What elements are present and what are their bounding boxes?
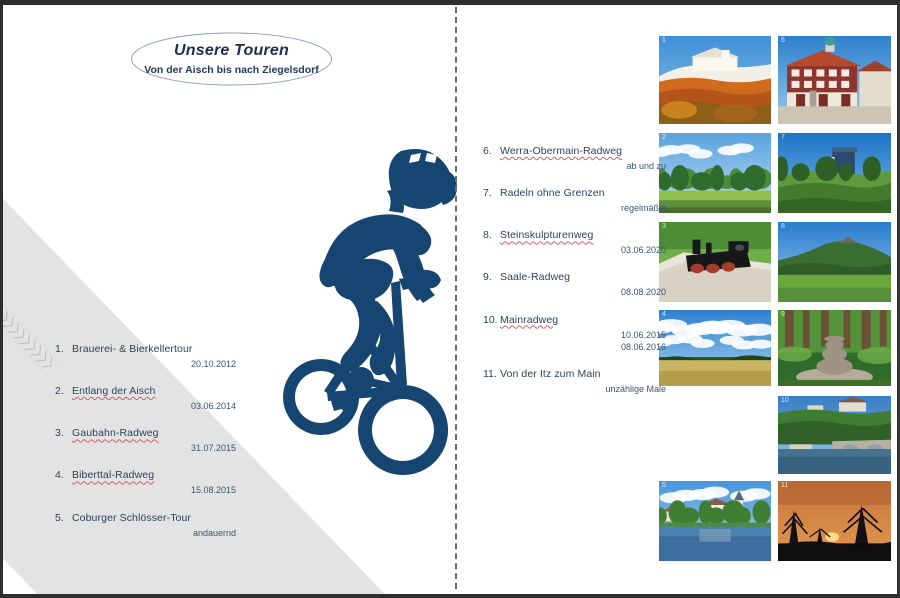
tour-title-line: 5.Coburger Schlösser-Tour — [55, 512, 250, 524]
tour-date: unzählige Male — [483, 383, 668, 395]
tour-title-line: 6.Werra-Obermain-Radweg — [483, 145, 668, 157]
tour-date: andauernd — [55, 527, 250, 539]
photo-thumbnail-4[interactable]: 4 — [658, 309, 772, 387]
tour-title-line: 10.Mainradweg — [483, 314, 668, 326]
photo-thumbnail-9[interactable]: 9 — [777, 309, 892, 387]
tour-date: 03.06.2020 — [483, 244, 668, 256]
tour-name: Werra-Obermain-Radweg — [500, 145, 622, 157]
tour-date: ab und zu — [483, 160, 668, 172]
tour-title-line: 9.Saale-Radweg — [483, 271, 668, 283]
photo-image-8 — [778, 222, 891, 302]
tour-item: 10.Mainradweg10.06.201508.06.2016 — [483, 314, 668, 353]
tour-title-line: 1.Brauerei- & Bierkellertour — [55, 343, 250, 355]
tour-name: Gaubahn-Radweg — [72, 427, 159, 439]
tour-item: 11.Von der Itz zum Mainunzählige Male — [483, 368, 668, 395]
photo-number-badge: 10 — [781, 397, 789, 404]
tour-name: Von der Itz zum Main — [500, 368, 601, 380]
photo-thumbnail-3[interactable]: 3 — [658, 221, 772, 303]
tour-number: 8. — [483, 229, 500, 241]
tour-title-line: 7.Radeln ohne Grenzen — [483, 187, 668, 199]
document-page: Unsere Touren Von der Aisch bis nach Zie… — [0, 0, 900, 598]
photo-thumbnail-6[interactable]: 6 — [777, 35, 892, 125]
photo-image-2 — [659, 133, 771, 213]
tour-name: Coburger Schlösser-Tour — [72, 512, 191, 524]
tour-item: 1.Brauerei- & Bierkellertour20.10.2012 — [55, 343, 250, 370]
tour-item: 4.Biberttal-Radweg15.08.2015 — [55, 469, 250, 496]
photo-image-4 — [659, 310, 771, 386]
photo-number-badge: 7 — [781, 134, 785, 141]
photo-thumbnail-2[interactable]: 2 — [658, 132, 772, 214]
tour-name: Radeln ohne Grenzen — [500, 187, 605, 199]
photo-thumbnail-5[interactable]: 5 — [658, 480, 772, 562]
tour-item: 5.Coburger Schlösser-Tourandauernd — [55, 512, 250, 539]
photo-image-10 — [778, 396, 891, 474]
tour-item: 2.Entlang der Aisch03.06.2014 — [55, 385, 250, 412]
photo-number-badge: 6 — [781, 37, 785, 44]
tour-title-line: 8.Steinskulpturenweg — [483, 229, 668, 241]
tour-name: Mainradweg — [500, 314, 558, 326]
photo-image-3 — [659, 222, 771, 302]
tour-number: 3. — [55, 427, 72, 439]
tour-title-line: 11.Von der Itz zum Main — [483, 368, 668, 380]
tour-number: 9. — [483, 271, 500, 283]
tour-number: 10. — [483, 314, 500, 326]
photo-image-5 — [659, 481, 771, 561]
tour-item: 8.Steinskulpturenweg03.06.2020 — [483, 229, 668, 256]
photo-number-badge: 9 — [781, 311, 785, 318]
photo-number-badge: 11 — [781, 482, 788, 489]
tour-number: 5. — [55, 512, 72, 524]
title-badge: Unsere Touren Von der Aisch bis nach Zie… — [129, 30, 334, 88]
tour-title-line: 2.Entlang der Aisch — [55, 385, 250, 397]
tour-name: Steinskulpturenweg — [500, 229, 593, 241]
tour-name: Entlang der Aisch — [72, 385, 155, 397]
tour-name: Brauerei- & Bierkellertour — [72, 343, 192, 355]
tour-item: 3.Gaubahn-Radweg31.07.2015 — [55, 427, 250, 454]
photo-number-badge: 1 — [662, 37, 666, 44]
tour-number: 6. — [483, 145, 500, 157]
tour-number: 4. — [55, 469, 72, 481]
tour-number: 2. — [55, 385, 72, 397]
page-title: Unsere Touren — [129, 42, 334, 60]
tour-list-right: 6.Werra-Obermain-Radwegab und zu7.Radeln… — [483, 145, 668, 410]
photo-thumbnail-7[interactable]: 7 — [777, 132, 892, 214]
tour-date: regelmäßig — [483, 202, 668, 214]
tour-number: 7. — [483, 187, 500, 199]
tour-name: Biberttal-Radweg — [72, 469, 154, 481]
tour-item: 9.Saale-Radweg08.08.2020 — [483, 271, 668, 298]
tour-date: 20.10.2012 — [55, 358, 250, 370]
photo-number-badge: 8 — [781, 223, 785, 230]
tour-date: 03.06.2014 — [55, 400, 250, 412]
photo-image-1 — [659, 36, 771, 124]
tour-number: 11. — [483, 368, 500, 380]
tour-title-line: 3.Gaubahn-Radweg — [55, 427, 250, 439]
photo-thumbnail-8[interactable]: 8 — [777, 221, 892, 303]
vertical-dashed-divider — [455, 7, 457, 589]
photo-thumbnail-11[interactable]: 11 — [777, 480, 892, 562]
photo-thumbnail-10[interactable]: 10 — [777, 395, 892, 475]
photo-thumbnail-1[interactable]: 1 — [658, 35, 772, 125]
photo-image-7 — [778, 133, 891, 213]
tour-item: 7.Radeln ohne Grenzenregelmäßig — [483, 187, 668, 214]
cyclist-silhouette-icon — [261, 133, 476, 478]
photo-image-6 — [778, 36, 891, 124]
tour-date: 08.08.2020 — [483, 286, 668, 298]
tour-item: 6.Werra-Obermain-Radwegab und zu — [483, 145, 668, 172]
page-subtitle: Von der Aisch bis nach Ziegelsdorf — [129, 64, 334, 76]
photo-image-9 — [778, 310, 891, 386]
photo-number-badge: 2 — [662, 134, 666, 141]
tour-name: Saale-Radweg — [500, 271, 570, 283]
tour-date: 15.08.2015 — [55, 484, 250, 496]
slide-canvas: Unsere Touren Von der Aisch bis nach Zie… — [3, 5, 897, 594]
tour-number: 1. — [55, 343, 72, 355]
tour-title-line: 4.Biberttal-Radweg — [55, 469, 250, 481]
photo-number-badge: 5 — [662, 482, 666, 489]
tour-date: 10.06.201508.06.2016 — [483, 329, 668, 353]
photo-image-11 — [778, 481, 891, 561]
tour-list-left: 1.Brauerei- & Bierkellertour20.10.20122.… — [55, 343, 250, 554]
tour-date: 31.07.2015 — [55, 442, 250, 454]
